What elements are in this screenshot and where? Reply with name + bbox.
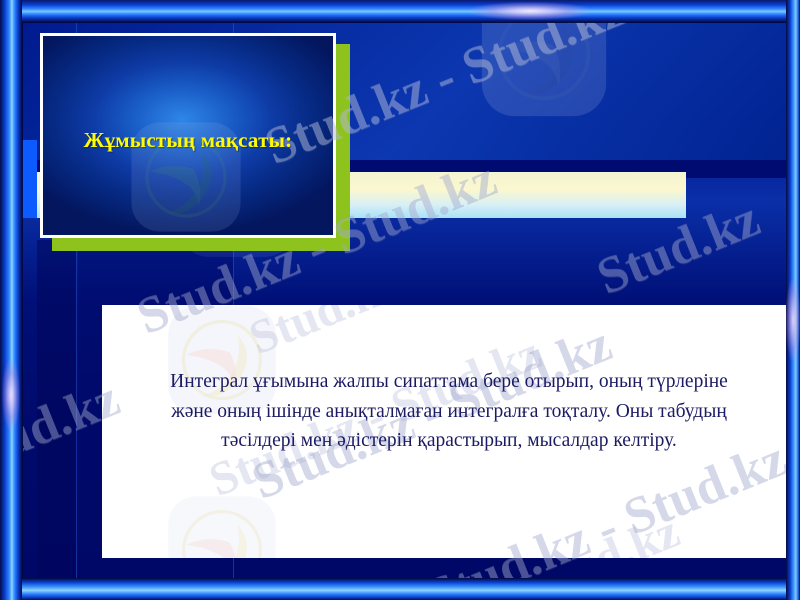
decorative-vertical-panel-1 (37, 240, 77, 578)
slide-top-edge-band (0, 0, 800, 22)
content-panel: Stud.kz - Stud.kz Stud.kz - Stud.kz Stud… (102, 305, 796, 558)
watermark-text: Stud.kz (522, 504, 687, 558)
title-card: Жұмыстың мақсаты: (40, 33, 336, 238)
slide-right-edge-band (786, 0, 800, 600)
slide-title: Жұмыстың мақсаты: (70, 125, 307, 155)
slide-body-text: Интеграл ұғымына жалпы сипаттама бере от… (102, 367, 796, 456)
hummingbird-logo-icon (158, 486, 286, 558)
presentation-slide: Жұмыстың мақсаты: Stud.kz - Stud.kz Stud… (0, 0, 800, 600)
slide-left-edge-band (0, 0, 22, 600)
watermark-text: Stud.kz - Stud.kz (242, 305, 589, 366)
slide-bottom-edge-band (0, 578, 800, 600)
